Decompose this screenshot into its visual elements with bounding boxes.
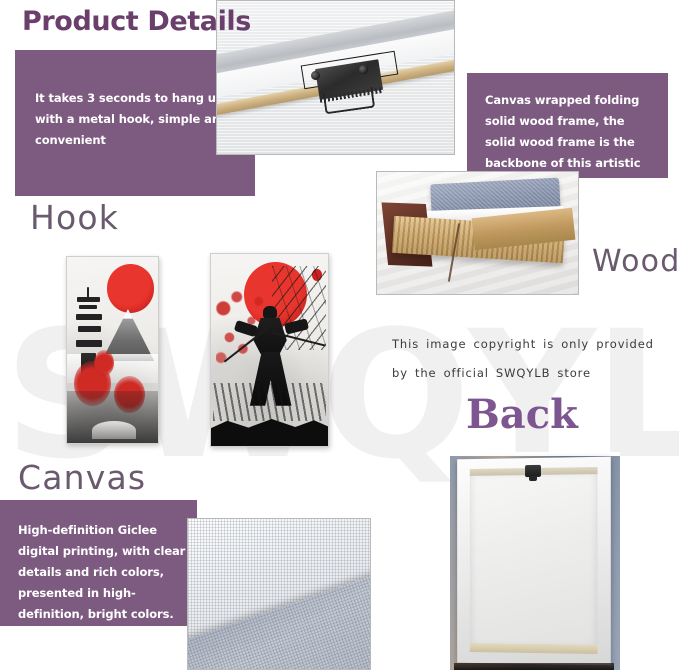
wood-info-panel: Canvas wrapped folding solid wood frame,… <box>467 73 668 178</box>
stretcher-frame <box>457 457 611 666</box>
samurai-warrior-print <box>210 253 329 447</box>
copyright-line-2: by the official SWQYLB store <box>392 359 674 388</box>
red-sun-motif <box>107 264 154 312</box>
bottom-stretcher-bar <box>470 643 598 654</box>
canvas-back-view-photo <box>450 452 620 670</box>
bottom-shadow <box>454 663 614 670</box>
page-title: Product Details <box>22 6 251 37</box>
canvas-section-label: Canvas <box>18 458 146 497</box>
wood-section-label: Wood <box>592 244 679 279</box>
copyright-notice: This image copyright is only provided by… <box>392 330 674 388</box>
metal-sawtooth-hanger-photo <box>216 0 455 155</box>
ink-splash-texture <box>213 383 325 421</box>
wood-frame-corner-photo <box>376 171 579 295</box>
hook-info-text: It takes 3 seconds to hang up with a met… <box>15 50 230 151</box>
rear-hook-tab <box>525 465 541 477</box>
infographic-canvas: SWQYLB Product Details It takes 3 second… <box>0 0 679 670</box>
canvas-info-text: High-definition Giclee digital printing,… <box>0 500 197 625</box>
copyright-line-1: This image copyright is only provided <box>392 330 674 359</box>
canvas-texture-swatch-photo <box>187 518 371 670</box>
canvas-reverse-surface <box>470 471 598 649</box>
water-stream <box>92 421 136 440</box>
back-section-label: Back <box>466 391 578 438</box>
pagoda-mount-fuji-print <box>66 256 159 444</box>
hook-section-label: Hook <box>30 198 119 237</box>
samurai-helmet <box>263 306 277 319</box>
canvas-info-panel: High-definition Giclee digital printing,… <box>0 500 197 626</box>
